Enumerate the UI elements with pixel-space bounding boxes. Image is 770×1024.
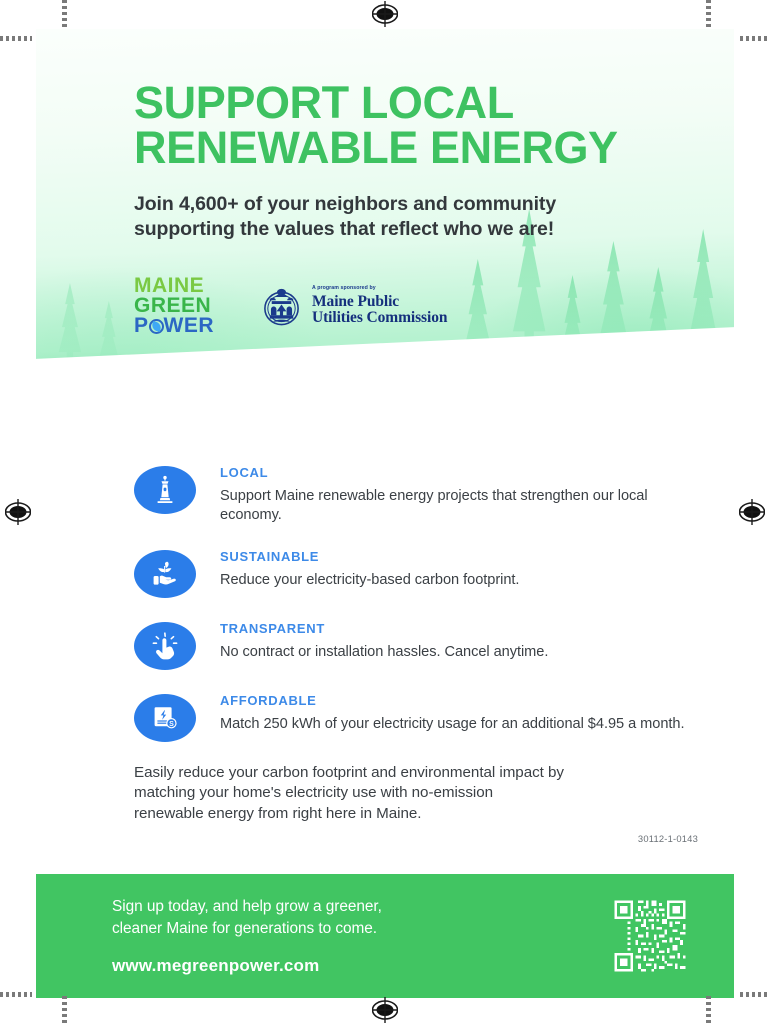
closing-paragraph: Easily reduce your carbon footprint and … [134, 763, 564, 825]
crop-mark-top-right-horizontal [740, 36, 770, 41]
electric-bill-dollar-icon: S [134, 694, 196, 742]
registration-target-left [5, 499, 31, 525]
crop-mark-top-left-vertical [62, 0, 67, 30]
feature-description: Support Maine renewable energy projects … [220, 487, 694, 526]
puc-name-line-1: Maine Public [312, 294, 447, 310]
svg-text:S: S [169, 721, 174, 728]
puc-name-line-2: Utilities Commission [312, 310, 447, 326]
page-title: SUPPORT LOCAL RENEWABLE ENERGY [134, 81, 694, 170]
logo-line-green: GREEN [134, 296, 214, 316]
registration-target-top [372, 1, 398, 27]
job-code: 30112-1-0143 [638, 833, 698, 844]
crop-mark-top-left-horizontal [0, 36, 32, 41]
feature-description: Reduce your electricity-based carbon foo… [220, 571, 519, 590]
feature-description: No contract or installation hassles. Can… [220, 643, 548, 662]
qr-code-icon[interactable] [612, 898, 688, 974]
feature-list: LOCAL Support Maine renewable energy pro… [36, 441, 734, 742]
hand-holding-plant-icon [134, 550, 196, 598]
feature-title: TRANSPARENT [220, 621, 548, 636]
footer-cta-band: Sign up today, and help grow a greener, … [36, 874, 734, 998]
maine-green-power-logo: MAINE GREEN PWER [134, 276, 214, 336]
maine-public-utilities-commission-logo: A program sponsored by Maine Public Util… [260, 285, 447, 328]
hero-section: SUPPORT LOCAL RENEWABLE ENERGY Join 4,60… [36, 29, 734, 441]
feature-title: SUSTAINABLE [220, 549, 519, 564]
puc-kicker: A program sponsored by [312, 286, 447, 291]
logo-power-p: P [134, 314, 149, 337]
crop-mark-bottom-left-horizontal [0, 992, 32, 997]
logo-power-wer: WER [164, 314, 215, 337]
feature-item-transparent: TRANSPARENT No contract or installation … [134, 619, 694, 670]
poster-artboard: SUPPORT LOCAL RENEWABLE ENERGY Join 4,60… [36, 29, 734, 998]
lighthouse-icon [134, 466, 196, 514]
crop-mark-bottom-left-vertical [62, 996, 67, 1024]
logo-row: MAINE GREEN PWER [134, 276, 734, 336]
footer-line-1: Sign up today, and help grow a greener, [112, 896, 382, 918]
website-url[interactable]: www.megreenpower.com [112, 956, 382, 976]
feature-item-local: LOCAL Support Maine renewable energy pro… [134, 463, 694, 526]
logo-line-maine: MAINE [134, 276, 214, 296]
registration-target-bottom [372, 997, 398, 1023]
feature-description: Match 250 kWh of your electricity usage … [220, 715, 684, 734]
feature-item-sustainable: SUSTAINABLE Reduce your electricity-base… [134, 547, 694, 598]
feature-item-affordable: S AFFORDABLE Match 250 kWh of your elect… [134, 691, 694, 742]
crop-mark-bottom-right-horizontal [740, 992, 770, 997]
crop-mark-top-right-vertical [706, 0, 711, 30]
maine-state-seal-icon [260, 285, 303, 328]
hero-bottom-fade [36, 377, 734, 441]
feature-title: AFFORDABLE [220, 693, 684, 708]
crop-mark-bottom-right-vertical [706, 996, 711, 1024]
registration-target-right [739, 499, 765, 525]
feature-title: LOCAL [220, 465, 694, 480]
logo-line-power: PWER [134, 316, 214, 336]
leaf-in-o-icon [149, 319, 164, 334]
footer-line-2: cleaner Maine for generations to come. [112, 918, 382, 940]
hero-subhead: Join 4,600+ of your neighbors and commun… [134, 192, 564, 242]
pointing-hand-click-icon [134, 622, 196, 670]
